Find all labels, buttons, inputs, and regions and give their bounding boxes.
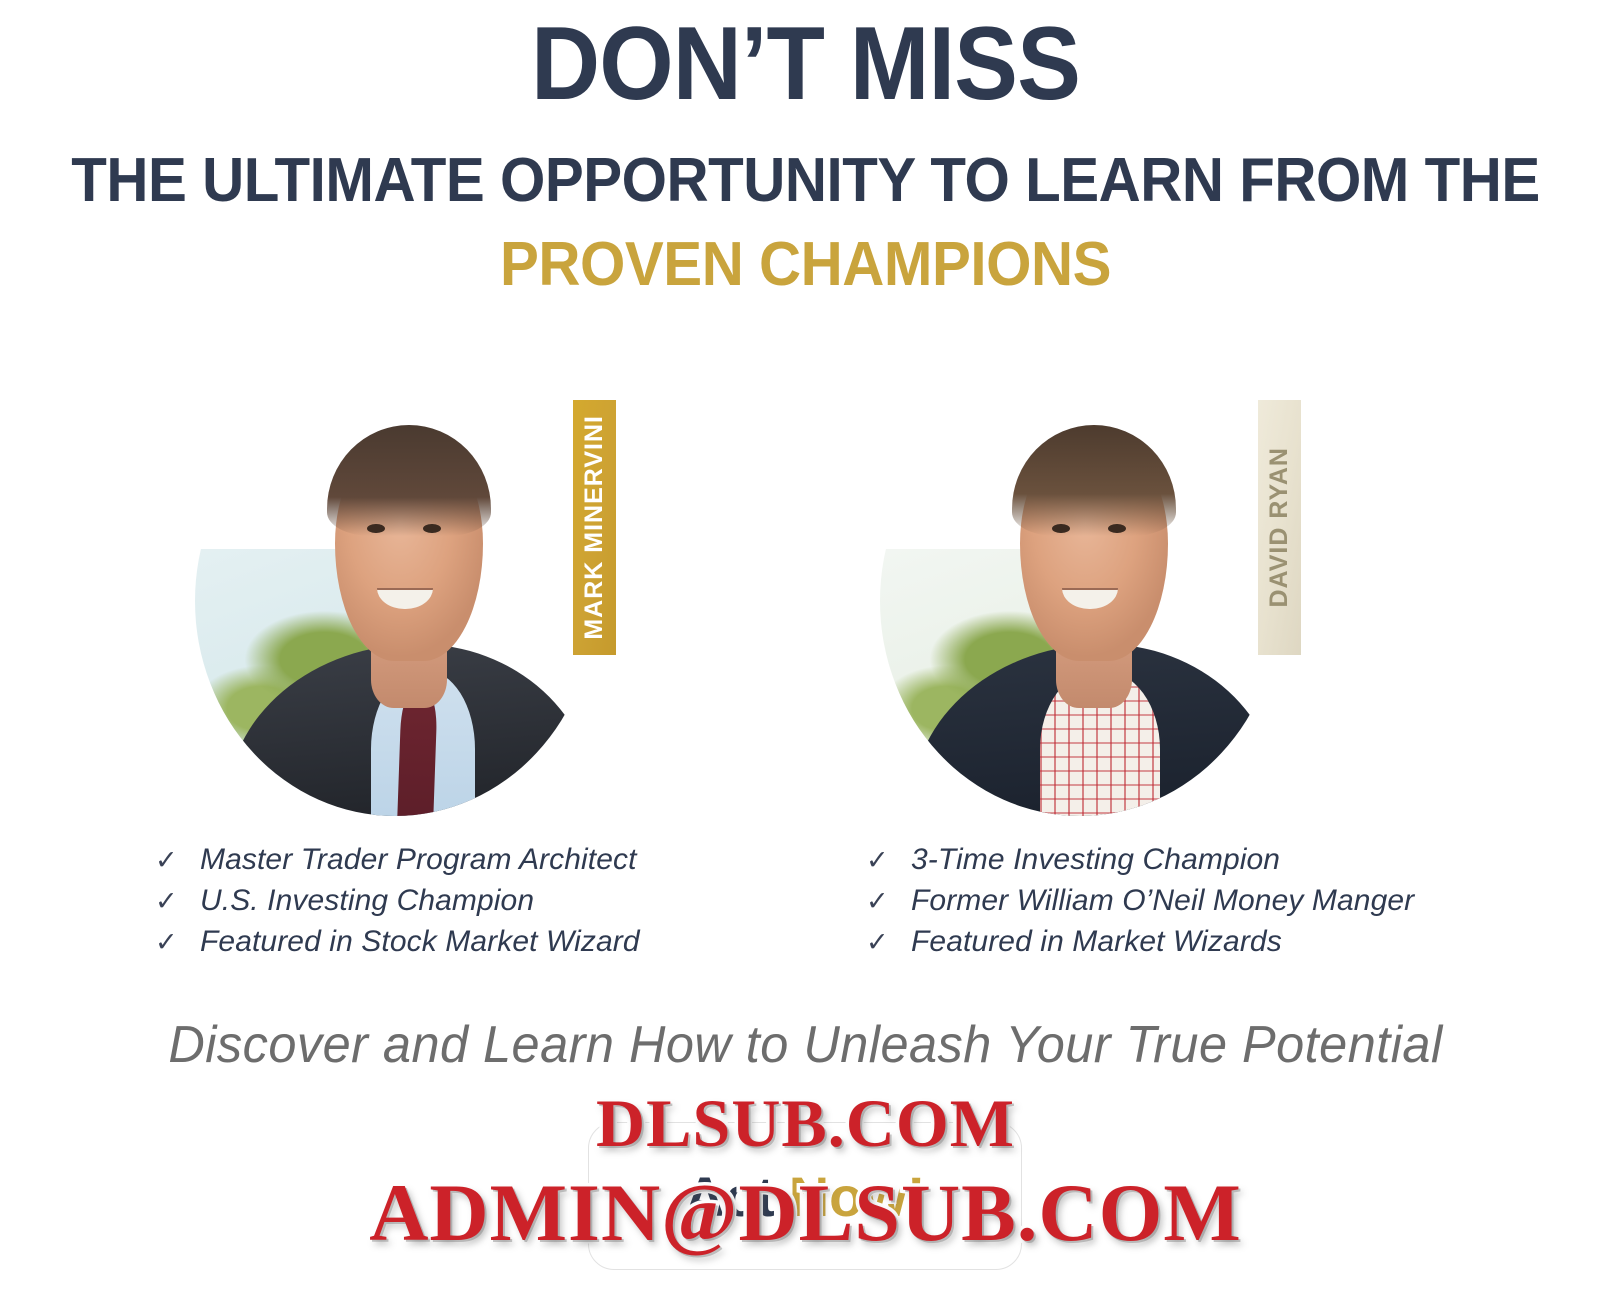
portrait-tie	[396, 695, 437, 816]
check-icon: ✓	[155, 929, 185, 956]
watermark-email: ADMIN@DLSUB.COM	[0, 1166, 1611, 1260]
list-item-label: U.S. Investing Champion	[200, 884, 534, 918]
list-item-label: Featured in Stock Market Wizard	[200, 925, 640, 959]
list-item: ✓ Master Trader Program Architect	[155, 843, 640, 884]
credentials-list-david-ryan: ✓ 3-Time Investing Champion ✓ Former Wil…	[866, 843, 1414, 966]
portrait-eye-right	[1108, 524, 1126, 533]
credentials-list-mark-minervini: ✓ Master Trader Program Architect ✓ U.S.…	[155, 843, 640, 966]
speaker-credentials: ✓ Master Trader Program Architect ✓ U.S.…	[0, 843, 1611, 983]
list-item-label: Master Trader Program Architect	[200, 843, 637, 877]
list-item-label: Featured in Market Wizards	[911, 925, 1282, 959]
headline-line-3: PROVEN CHAMPIONS	[48, 234, 1562, 296]
check-icon: ✓	[155, 847, 185, 874]
speaker-name-label: MARK MINERVINI	[580, 415, 609, 640]
speaker-card-david-ryan: DAVID RYAN	[880, 386, 1310, 826]
speaker-name-banner-david-ryan: DAVID RYAN	[1258, 400, 1301, 655]
portrait-eye-left	[367, 524, 385, 533]
speaker-name-label: DAVID RYAN	[1265, 447, 1294, 608]
portrait-eye-right	[423, 524, 441, 533]
tagline: Discover and Learn How to Unleash Your T…	[24, 1015, 1587, 1075]
list-item-label: Former William O’Neil Money Manger	[911, 884, 1414, 918]
check-icon: ✓	[866, 929, 896, 956]
check-icon: ✓	[866, 847, 896, 874]
speaker-portrait-mark-minervini	[195, 386, 595, 816]
speakers-section: MARK MINERVINI DAVID RYAN	[0, 386, 1611, 826]
check-icon: ✓	[866, 888, 896, 915]
list-item: ✓ Featured in Market Wizards	[866, 925, 1414, 966]
list-item: ✓ Featured in Stock Market Wizard	[155, 925, 640, 966]
headline-line-2: THE ULTIMATE OPPORTUNITY TO LEARN FROM T…	[48, 150, 1562, 212]
headline-line-1: DON’T MISS	[64, 12, 1546, 116]
list-item: ✓ Former William O’Neil Money Manger	[866, 884, 1414, 925]
list-item-label: 3-Time Investing Champion	[911, 843, 1280, 877]
portrait-eye-left	[1052, 524, 1070, 533]
watermark-site: DLSUB.COM	[0, 1084, 1611, 1163]
speaker-portrait-david-ryan	[880, 386, 1280, 816]
list-item: ✓ 3-Time Investing Champion	[866, 843, 1414, 884]
speaker-name-banner-mark-minervini: MARK MINERVINI	[573, 400, 616, 655]
check-icon: ✓	[155, 888, 185, 915]
list-item: ✓ U.S. Investing Champion	[155, 884, 640, 925]
speaker-card-mark-minervini: MARK MINERVINI	[195, 386, 625, 826]
headline-block: DON’T MISS THE ULTIMATE OPPORTUNITY TO L…	[0, 0, 1611, 296]
